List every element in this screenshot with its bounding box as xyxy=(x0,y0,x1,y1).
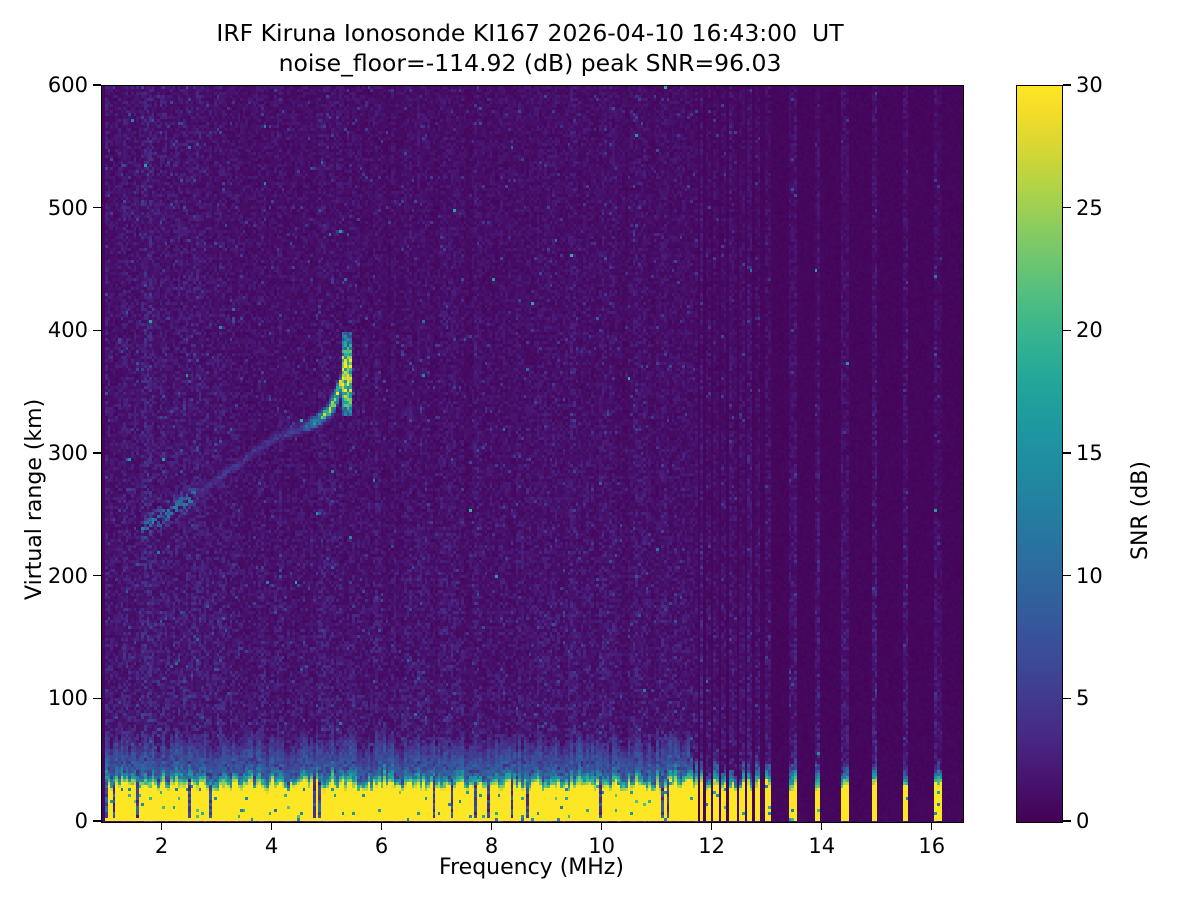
colorbar-tick-mark xyxy=(1063,207,1071,208)
x-tick-mark xyxy=(271,822,272,830)
y-tick-mark xyxy=(93,84,101,85)
colorbar-tick-mark xyxy=(1063,820,1071,821)
colorbar-tick-mark xyxy=(1063,698,1071,699)
x-tick-mark xyxy=(161,822,162,830)
colorbar-gradient xyxy=(1017,86,1062,822)
y-axis-label: Virtual range (km) xyxy=(22,399,47,600)
colorbar-tick-label: 10 xyxy=(1076,564,1103,588)
y-tick-mark xyxy=(93,698,101,699)
colorbar-tick-label: 15 xyxy=(1076,441,1103,465)
x-tick-mark xyxy=(381,822,382,830)
x-tick-mark xyxy=(601,822,602,830)
colorbar-tick-label: 5 xyxy=(1076,686,1089,710)
x-axis-label: Frequency (MHz) xyxy=(101,855,962,880)
colorbar-tick-mark xyxy=(1063,330,1071,331)
x-tick-mark xyxy=(931,822,932,830)
colorbar-tick-mark xyxy=(1063,452,1071,453)
colorbar-tick-mark xyxy=(1063,575,1071,576)
colorbar-tick-label: 25 xyxy=(1076,196,1103,220)
colorbar[interactable] xyxy=(1016,85,1063,823)
x-tick-mark xyxy=(491,822,492,830)
colorbar-tick-label: 20 xyxy=(1076,318,1103,342)
colorbar-tick-label: 0 xyxy=(1076,809,1089,833)
y-tick-mark xyxy=(93,452,101,453)
y-tick-mark xyxy=(93,820,101,821)
y-tick-mark xyxy=(93,330,101,331)
x-tick-mark xyxy=(821,822,822,830)
x-tick-mark xyxy=(711,822,712,830)
ionogram-figure: IRF Kiruna Ionosonde KI167 2026-04-10 16… xyxy=(0,0,1200,900)
y-tick-mark xyxy=(93,575,101,576)
y-tick-mark xyxy=(93,207,101,208)
colorbar-tick-label: 30 xyxy=(1076,73,1103,97)
colorbar-label: SNR (dB) xyxy=(1128,461,1153,560)
colorbar-tick-mark xyxy=(1063,84,1071,85)
